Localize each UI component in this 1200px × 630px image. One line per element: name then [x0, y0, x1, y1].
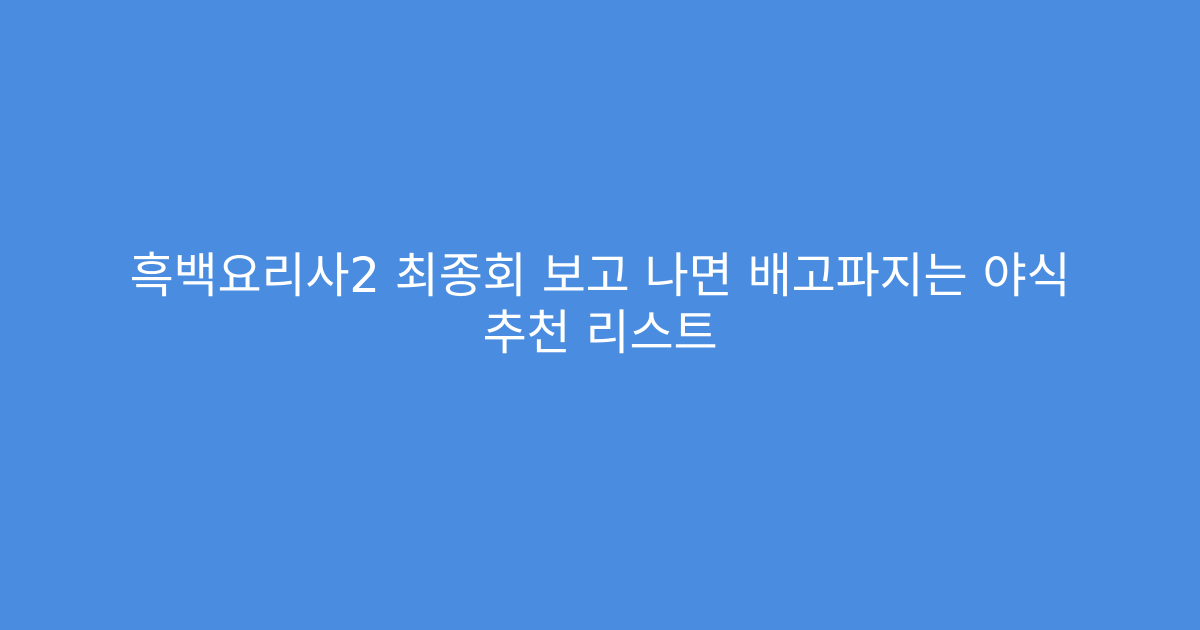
og-share-card: 흑백요리사2 최종회 보고 나면 배고파지는 야식 추천 리스트	[0, 0, 1200, 630]
card-content-wrapper: 흑백요리사2 최종회 보고 나면 배고파지는 야식 추천 리스트	[0, 248, 1200, 362]
card-title: 흑백요리사2 최종회 보고 나면 배고파지는 야식 추천 리스트	[94, 248, 1106, 362]
